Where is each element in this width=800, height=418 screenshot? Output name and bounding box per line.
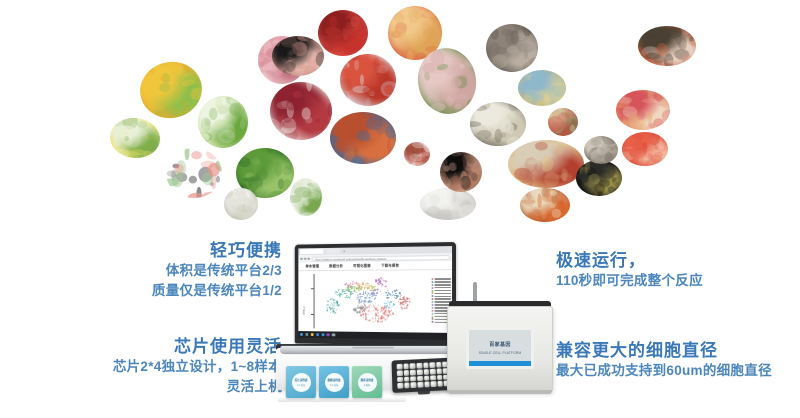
scatter-point — [380, 312, 381, 313]
legend-swatch — [431, 310, 433, 312]
chip-well — [417, 375, 423, 381]
nav-item-reports[interactable]: 下载与报告 — [381, 263, 399, 268]
scatter-point — [374, 286, 375, 287]
scatter-point — [368, 283, 369, 284]
scatter-point — [388, 293, 389, 294]
callout-large-cell-diameter: 兼容更大的细胞直径 最大已成功支持到60um的细胞直径 — [556, 340, 800, 381]
new-tab-button[interactable]: + — [342, 249, 347, 254]
lungs-specimen — [270, 82, 332, 140]
tomato-pepper-specimen — [166, 148, 222, 198]
legend-label — [434, 296, 451, 298]
legend-item[interactable] — [431, 290, 451, 292]
plot-axes: tSNE_2 — [298, 270, 452, 333]
scatter-point — [368, 298, 369, 299]
legend-swatch — [431, 318, 433, 320]
scatter-point — [368, 313, 369, 314]
scatter-point — [359, 294, 360, 295]
scatter-point — [379, 321, 380, 322]
reagent-cartridge-group: 芯片试剂盒 2*4 孔位 裂解试剂盒 2*4 孔位 建库试剂盒 8 样本 — [286, 356, 399, 402]
chip-well — [397, 364, 403, 370]
scatter-point — [372, 318, 373, 319]
scatter-point — [398, 301, 399, 302]
cartridge-label: 芯片试剂盒 2*4 孔位 — [291, 373, 310, 392]
blood-cells-specimen — [318, 10, 368, 56]
cartridge-2[interactable]: 裂解试剂盒 2*4 孔位 — [319, 366, 349, 398]
instrument-screen-title: 百家基因 — [489, 341, 511, 348]
scatter-point — [369, 309, 370, 310]
scatter-point — [368, 288, 369, 289]
scatter-point — [354, 284, 355, 285]
promo-poster: 轻巧便携 体积是传统平台2/3 质量仅是传统平台1/2 芯片使用灵活 芯片2*4… — [0, 0, 800, 418]
scatter-point — [350, 282, 351, 283]
legend-item[interactable] — [431, 287, 451, 289]
chip-well — [423, 362, 429, 368]
scatter-point — [363, 284, 364, 285]
scatter-point — [364, 288, 365, 289]
browser-tab-inactive[interactable] — [325, 249, 340, 254]
legend-swatch — [431, 278, 433, 280]
laptop-lid: + https://platform.singlecell.analysis/d… — [295, 242, 456, 346]
chip-well — [424, 382, 430, 388]
scatter-point — [384, 307, 385, 308]
tsne-scatter-plot: tSNE_2 — [298, 270, 452, 333]
scatter-point — [342, 289, 343, 290]
scatter-point — [402, 308, 403, 309]
callout-portable: 轻巧便携 体积是传统平台2/3 质量仅是传统平台1/2 — [20, 240, 282, 300]
scatter-point — [406, 307, 407, 308]
laptop-base — [279, 346, 466, 354]
scatter-point — [370, 312, 371, 313]
scatter-point — [349, 297, 350, 298]
callout-heading: 极速运行， — [556, 250, 800, 271]
scatter-point — [394, 291, 395, 292]
cartridge-label: 裂解试剂盒 2*4 孔位 — [324, 373, 343, 392]
scatter-point — [398, 296, 399, 297]
tissue-section-slide — [518, 70, 566, 106]
scatter-point — [339, 289, 340, 290]
scatter-point — [375, 318, 376, 319]
scatter-point — [336, 309, 337, 310]
scatter-point — [357, 292, 358, 293]
scatter-point — [379, 291, 380, 292]
legend-swatch — [431, 315, 433, 317]
scatter-point — [371, 306, 372, 307]
callout-line: 体积是传统平台2/3 — [20, 261, 282, 281]
oyster-specimen — [584, 136, 618, 164]
legend-swatch — [431, 281, 433, 283]
liver-pancreas-anatomy — [330, 112, 396, 164]
y-axis-line — [314, 274, 315, 328]
callout-heading: 芯片使用灵活 — [10, 336, 282, 357]
chip-well — [410, 369, 416, 375]
callout-heading: 轻巧便携 — [20, 240, 282, 261]
scatter-point — [344, 293, 345, 294]
scatter-point — [385, 310, 386, 311]
callout-fast-run: 极速运行， 110秒即可完成整个反应 — [556, 250, 800, 291]
scatter-point — [350, 296, 351, 297]
seedling-specimen — [290, 178, 322, 216]
scatter-point — [378, 289, 379, 290]
scatter-point — [388, 307, 389, 308]
instrument-screen-subtitle: SINGLE CELL PLATFORM — [479, 351, 521, 355]
scatter-point — [352, 293, 353, 294]
scatter-point — [375, 295, 376, 296]
scatter-point — [359, 302, 360, 303]
scatter-point — [391, 310, 392, 311]
scatter-point — [394, 297, 395, 298]
scatter-point — [330, 304, 331, 305]
y-tick — [311, 314, 314, 315]
scatter-point — [373, 309, 374, 310]
folder-icon[interactable] — [311, 333, 314, 336]
scatter-point — [350, 295, 351, 296]
mail-icon[interactable] — [321, 333, 324, 336]
scatter-point — [385, 286, 386, 287]
scatter-point — [395, 293, 396, 294]
chip-well — [423, 369, 429, 375]
scatter-point — [378, 284, 379, 285]
scatter-point — [386, 303, 387, 304]
shrimp-specimen — [520, 188, 570, 222]
chip-well — [397, 376, 403, 382]
instrument-touchscreen[interactable]: 百家基因 SINGLE CELL PLATFORM — [466, 327, 534, 369]
chip-well — [397, 383, 403, 389]
chip-well — [410, 363, 416, 369]
chip-well — [437, 375, 443, 381]
eye-specimen — [576, 160, 622, 196]
scatter-point — [368, 306, 369, 307]
scatter-point — [392, 291, 393, 292]
scatter-point — [369, 320, 370, 321]
cartridge-label-title: 芯片试剂盒 — [294, 378, 307, 382]
address-bar[interactable]: https://platform.singlecell.analysis/das… — [311, 255, 450, 262]
legend-swatch — [431, 313, 433, 315]
scatter-point — [389, 312, 390, 313]
scatter-point — [360, 315, 361, 316]
callout-heading: 兼容更大的细胞直径 — [556, 340, 800, 361]
legend-item[interactable] — [431, 278, 451, 280]
scatter-point — [340, 296, 341, 297]
scatter-point — [380, 318, 381, 319]
store-icon[interactable] — [327, 333, 330, 336]
scatter-point — [362, 311, 363, 312]
scatter-point — [350, 286, 351, 287]
chip-well-grid — [397, 362, 450, 389]
scatter-point — [377, 321, 378, 322]
fish-anatomy-diagram — [508, 140, 584, 188]
back-icon[interactable] — [300, 258, 302, 260]
scatter-point — [367, 296, 368, 297]
chip-well — [431, 381, 437, 387]
lab-mouse-specimen — [420, 188, 476, 220]
scatter-point — [378, 305, 379, 306]
scatter-point — [334, 293, 335, 294]
scatter-point — [377, 306, 378, 307]
scatter-point — [374, 299, 375, 300]
dandelion-specimen — [224, 188, 258, 220]
scatter-point — [333, 308, 334, 309]
scatter-point — [363, 317, 364, 318]
legend-label — [434, 278, 451, 280]
chip-well — [417, 369, 423, 375]
legend-swatch — [431, 307, 433, 309]
chip-well — [397, 370, 403, 376]
cartridge-label-sub: 8 样本 — [364, 382, 370, 386]
microwell-chip[interactable] — [392, 358, 456, 393]
y-axis-ticks — [298, 270, 452, 271]
browser-icon[interactable] — [316, 333, 319, 336]
scatter-point — [381, 310, 382, 311]
callout-line: 最大已成功支持到60um的细胞直径 — [556, 361, 800, 381]
forward-icon[interactable] — [304, 258, 306, 260]
chip-well — [404, 376, 410, 382]
scatter-point — [326, 305, 327, 306]
scatter-point — [362, 314, 363, 315]
scatter-point — [327, 304, 328, 305]
scatter-point — [369, 295, 370, 296]
legend-label — [434, 284, 451, 286]
cartridge-label-sub: 2*4 孔位 — [330, 382, 338, 386]
legend-item[interactable] — [431, 298, 451, 300]
scatter-point — [359, 286, 360, 287]
callout-line: 灵活上机 — [10, 377, 282, 397]
scatter-point — [337, 292, 338, 293]
scatter-point — [391, 301, 392, 302]
scatter-point — [402, 298, 403, 299]
scatter-point — [351, 287, 352, 288]
scatter-point — [407, 301, 408, 302]
scatter-point — [387, 316, 388, 317]
chip-tab — [418, 391, 430, 395]
scatter-point — [403, 297, 404, 298]
sequencing-instrument: 百家基因 SINGLE CELL PLATFORM — [447, 306, 553, 392]
legend-item[interactable] — [431, 292, 451, 294]
search-icon[interactable] — [305, 333, 308, 336]
scatter-point — [327, 307, 328, 308]
legend-swatch — [431, 292, 433, 294]
legend-item[interactable] — [431, 281, 451, 283]
chip-well — [437, 381, 443, 387]
scatter-point — [382, 321, 383, 322]
scatter-point — [391, 307, 392, 308]
reload-icon[interactable] — [307, 258, 309, 260]
shellfish-specimen — [616, 90, 670, 130]
brain-specimen — [272, 36, 324, 76]
cartridge-label-title: 建库试剂盒 — [361, 378, 374, 382]
scatter-point — [370, 298, 371, 299]
scatter-point — [344, 291, 345, 292]
legend-label — [434, 293, 451, 295]
chip-well — [430, 368, 436, 374]
heart-specimen — [340, 54, 396, 106]
callout-flexible-chip: 芯片使用灵活 芯片2*4独立设计，1~8样本 灵活上机 — [10, 336, 282, 396]
scatter-point — [378, 318, 379, 319]
reef-fish-specimen — [638, 26, 696, 66]
legend-item[interactable] — [431, 295, 451, 297]
chip-well — [411, 382, 417, 388]
legend-swatch — [431, 290, 433, 292]
scatter-point — [358, 297, 359, 298]
callout-line: 质量仅是传统平台1/2 — [20, 281, 282, 301]
scatter-point — [387, 295, 388, 296]
scatter-point — [330, 299, 331, 300]
chip-well — [424, 375, 430, 381]
scatter-point — [360, 308, 361, 309]
scatter-point — [333, 300, 334, 301]
insect-specimen — [548, 108, 578, 136]
scatter-point-cloud — [316, 272, 422, 330]
chip-well — [404, 383, 410, 389]
chip-well — [403, 363, 409, 369]
legend-swatch — [431, 301, 433, 303]
chip-frame — [392, 358, 456, 393]
rabbit-specimen — [486, 24, 538, 72]
scallop-specimen — [622, 132, 668, 166]
scatter-point — [393, 305, 394, 306]
scatter-point — [371, 285, 372, 286]
legend-label — [434, 287, 451, 289]
scatter-point — [332, 306, 333, 307]
scatter-point — [385, 314, 386, 315]
chip-well — [436, 362, 442, 368]
scatter-point — [337, 302, 338, 303]
chip-well — [410, 376, 416, 382]
scatter-point — [355, 288, 356, 289]
scatter-point — [389, 304, 390, 305]
scatter-point — [345, 284, 346, 285]
cartridge-1[interactable]: 芯片试剂盒 2*4 孔位 — [286, 366, 316, 398]
scatter-point — [366, 317, 367, 318]
instrument-progress-bar — [469, 361, 531, 366]
scatter-point — [406, 297, 407, 298]
scatter-point — [363, 291, 364, 292]
legend-swatch — [431, 284, 433, 286]
scatter-point — [330, 312, 331, 313]
scatter-point — [327, 300, 328, 301]
legend-swatch — [431, 298, 433, 300]
legend-item[interactable] — [431, 284, 451, 286]
browser-tab-active[interactable] — [300, 249, 323, 254]
brain-mri-scan — [440, 152, 482, 192]
scatter-point — [365, 314, 366, 315]
chip-well — [416, 363, 422, 369]
scatter-point — [339, 304, 340, 305]
chip-well — [403, 370, 409, 376]
scatter-point — [388, 296, 389, 297]
scatter-point — [375, 320, 376, 321]
cartridge-3[interactable]: 建库试剂盒 8 样本 — [352, 366, 382, 398]
laptop-screen: + https://platform.singlecell.analysis/d… — [298, 246, 452, 340]
nav-item-samples[interactable]: 样本管理 — [306, 264, 320, 269]
scatter-point — [342, 294, 343, 295]
scatter-point — [327, 310, 328, 311]
legend-label — [434, 298, 451, 300]
scatter-point — [356, 299, 357, 300]
scatter-point — [395, 298, 396, 299]
corn-specimen — [135, 56, 207, 124]
scatter-point — [377, 292, 378, 293]
scatter-point — [361, 302, 362, 303]
scatter-point — [358, 307, 359, 308]
instrument-body: 百家基因 SINGLE CELL PLATFORM — [447, 306, 553, 392]
scatter-point — [386, 307, 387, 308]
scatter-point — [404, 308, 405, 309]
scatter-point — [377, 309, 378, 310]
scatter-point — [352, 284, 353, 285]
legend-swatch — [431, 295, 433, 297]
scatter-point — [365, 297, 366, 298]
instrument-foot — [448, 390, 552, 394]
legend-label — [434, 290, 451, 292]
legend-label — [434, 281, 451, 283]
nav-item-analysis[interactable]: 数据分析 — [329, 264, 343, 269]
scatter-point — [390, 314, 391, 315]
cartridge-label-sub: 2*4 孔位 — [297, 382, 305, 386]
scatter-point — [326, 310, 327, 311]
scatter-point — [373, 295, 374, 296]
y-axis-label: tSNE_2 — [303, 306, 306, 315]
callout-line: 芯片2*4独立设计，1~8样本 — [10, 357, 282, 377]
chip-well — [430, 375, 436, 381]
chip-well — [436, 368, 442, 374]
herb-flower-specimen — [108, 115, 162, 160]
laptop-device: + https://platform.singlecell.analysis/d… — [280, 242, 466, 372]
scatter-point — [393, 312, 394, 313]
scatter-point — [360, 289, 361, 290]
y-tick — [311, 288, 314, 289]
scatter-point — [332, 312, 333, 313]
scatter-point — [409, 301, 410, 302]
legend-swatch — [431, 304, 433, 306]
scatter-point — [390, 311, 391, 312]
callout-line: 110秒即可完成整个反应 — [556, 271, 800, 291]
start-icon[interactable] — [300, 333, 303, 336]
scatter-point — [380, 283, 381, 284]
scatter-point — [386, 317, 387, 318]
scatter-point — [366, 289, 367, 290]
scatter-point — [348, 297, 349, 298]
scatter-point — [380, 308, 381, 309]
legend-swatch — [431, 321, 433, 323]
chip-well — [417, 382, 423, 388]
scatter-point — [382, 309, 383, 310]
chip-well — [429, 362, 435, 368]
settings-icon[interactable] — [332, 333, 335, 336]
cartridge-label: 建库试剂盒 8 样本 — [357, 373, 376, 392]
cartridge-label-title: 裂解试剂盒 — [328, 378, 341, 382]
legend-swatch — [431, 287, 433, 289]
scatter-point — [403, 304, 404, 305]
scatter-point — [359, 298, 360, 299]
scatter-point — [335, 306, 336, 307]
scatter-point — [364, 305, 365, 306]
nav-item-visualization[interactable]: 可视化图谱 — [353, 263, 371, 268]
scatter-point — [388, 315, 389, 316]
scatter-point — [361, 306, 362, 307]
scatter-point — [366, 319, 367, 320]
kidney-specimen — [404, 142, 430, 166]
leafy-greens-specimen — [198, 96, 248, 148]
browser-nav-icons[interactable] — [300, 258, 309, 260]
scatter-point — [409, 299, 410, 300]
scatter-point — [359, 290, 360, 291]
scatter-point — [375, 308, 376, 309]
